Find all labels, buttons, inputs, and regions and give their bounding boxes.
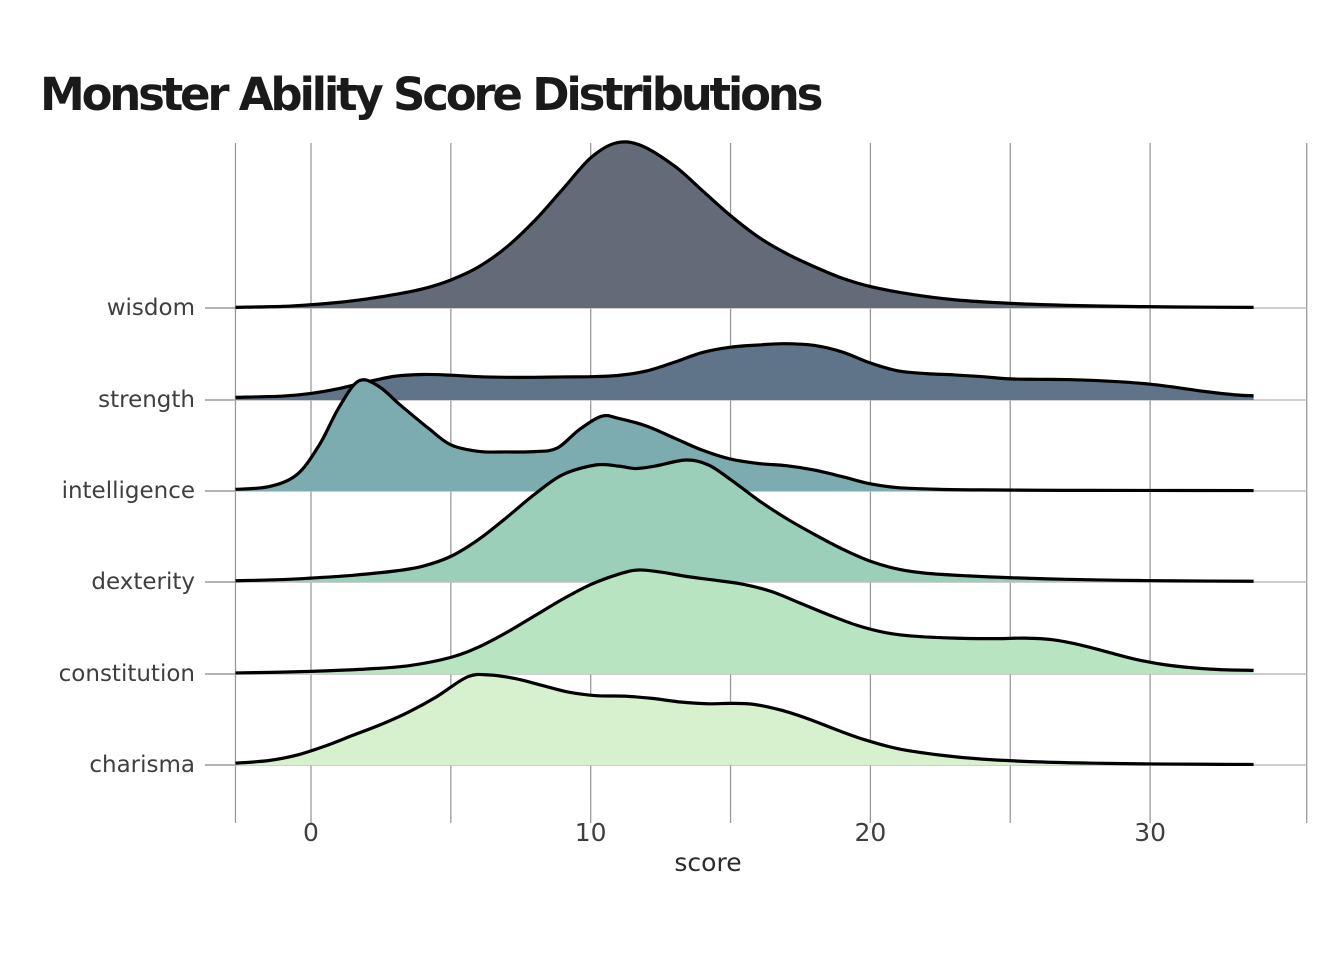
y-tick-label-constitution: constitution <box>59 661 195 687</box>
x-tick-label-0: 0 <box>303 818 319 847</box>
y-tick-label-dexterity: dexterity <box>91 569 195 595</box>
y-tick-label-intelligence: intelligence <box>62 478 195 504</box>
x-tick-label-30: 30 <box>1134 818 1166 847</box>
ridges-group <box>235 142 1253 765</box>
plot-canvas <box>0 0 1344 960</box>
y-tick-label-charisma: charisma <box>89 752 195 778</box>
ridgeline-chart-figure: Monster Ability Score Distributions wisd… <box>0 0 1344 960</box>
x-tick-label-10: 10 <box>575 818 607 847</box>
x-axis-label-text: score <box>674 848 741 877</box>
y-tick-label-strength: strength <box>98 387 195 413</box>
y-tick-label-wisdom: wisdom <box>107 295 195 321</box>
ridge-area-strength <box>235 344 1253 400</box>
x-tick-label-20: 20 <box>854 818 886 847</box>
x-axis-label: score <box>0 848 1344 877</box>
